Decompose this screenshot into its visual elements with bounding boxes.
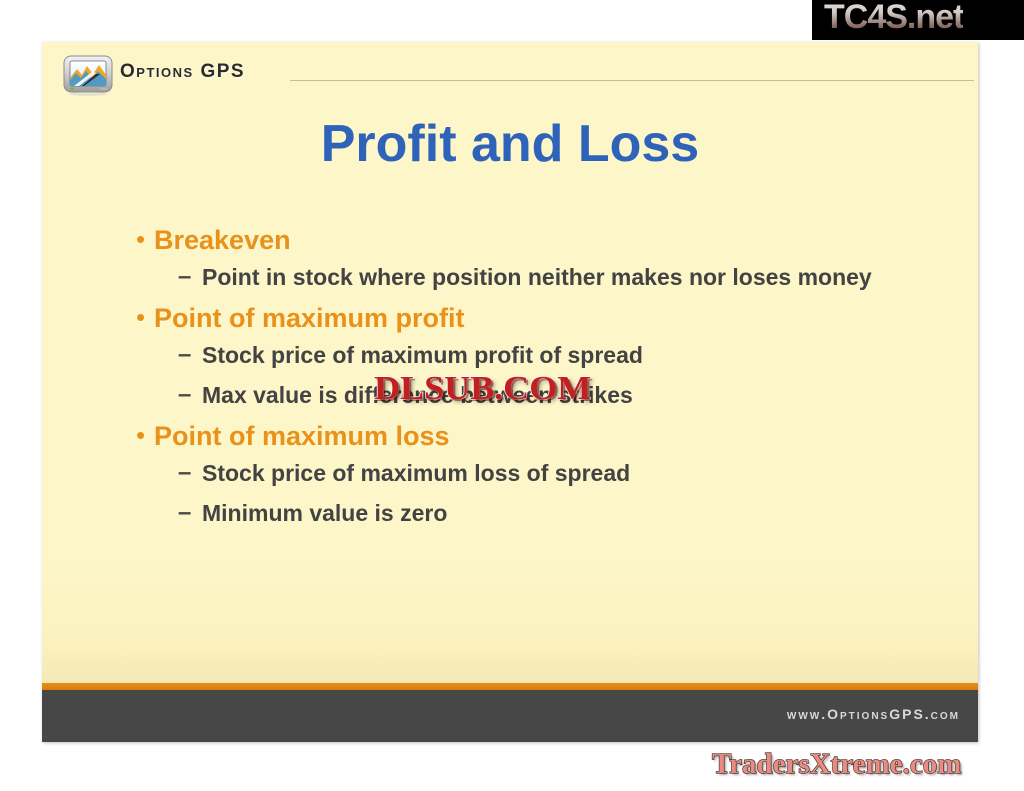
bullet-sublabel: Minimum value is zero	[202, 496, 447, 530]
brand-logo-text: Options GPS	[120, 61, 245, 83]
bullet-dash-icon: –	[178, 260, 202, 294]
bullet-item-level1: • Point of maximum profit	[130, 300, 938, 336]
bullet-item-level1: • Breakeven	[130, 222, 938, 258]
gps-device-icon	[62, 54, 114, 96]
bullet-sublabel: Point in stock where position neither ma…	[202, 260, 872, 294]
bullet-item-level2: – Minimum value is zero	[178, 496, 938, 530]
footer-url: www.OptionsGPS.com	[787, 706, 960, 722]
page-title: Profit and Loss	[42, 114, 978, 174]
bullet-dash-icon: –	[178, 338, 202, 372]
dlsub-watermark: DLSUB.COM	[374, 370, 591, 408]
slide-footer: www.OptionsGPS.com	[42, 690, 978, 742]
bullet-sublabel: Stock price of maximum profit of spread	[202, 338, 643, 372]
bullet-dash-icon: –	[178, 496, 202, 530]
bullet-label: Breakeven	[154, 222, 291, 258]
bullet-dash-icon: –	[178, 456, 202, 490]
bullet-group: • Breakeven – Point in stock where posit…	[130, 222, 938, 294]
bullet-group: • Point of maximum loss – Stock price of…	[130, 418, 938, 530]
bullet-dash-icon: –	[178, 378, 202, 412]
tc4s-watermark-band: TC4S.net	[812, 0, 1024, 40]
tc4s-watermark-text: TC4S.net	[824, 0, 963, 37]
header-divider	[290, 80, 974, 81]
bullet-item-level2: – Stock price of maximum profit of sprea…	[178, 338, 938, 372]
slide-header: Options GPS	[42, 42, 978, 104]
bullet-label: Point of maximum loss	[154, 418, 450, 454]
bullet-label: Point of maximum profit	[154, 300, 465, 336]
bullet-dot-icon: •	[130, 300, 154, 334]
accent-bar	[42, 683, 978, 690]
bullet-item-level2: – Point in stock where position neither …	[178, 260, 938, 294]
tradersxtreme-watermark: TradersXtreme.com	[712, 748, 961, 781]
bullet-item-level2: – Stock price of maximum loss of spread	[178, 456, 938, 490]
bullet-sublabel: Stock price of maximum loss of spread	[202, 456, 630, 490]
bullet-item-level1: • Point of maximum loss	[130, 418, 938, 454]
bullet-dot-icon: •	[130, 222, 154, 256]
bullet-dot-icon: •	[130, 418, 154, 452]
